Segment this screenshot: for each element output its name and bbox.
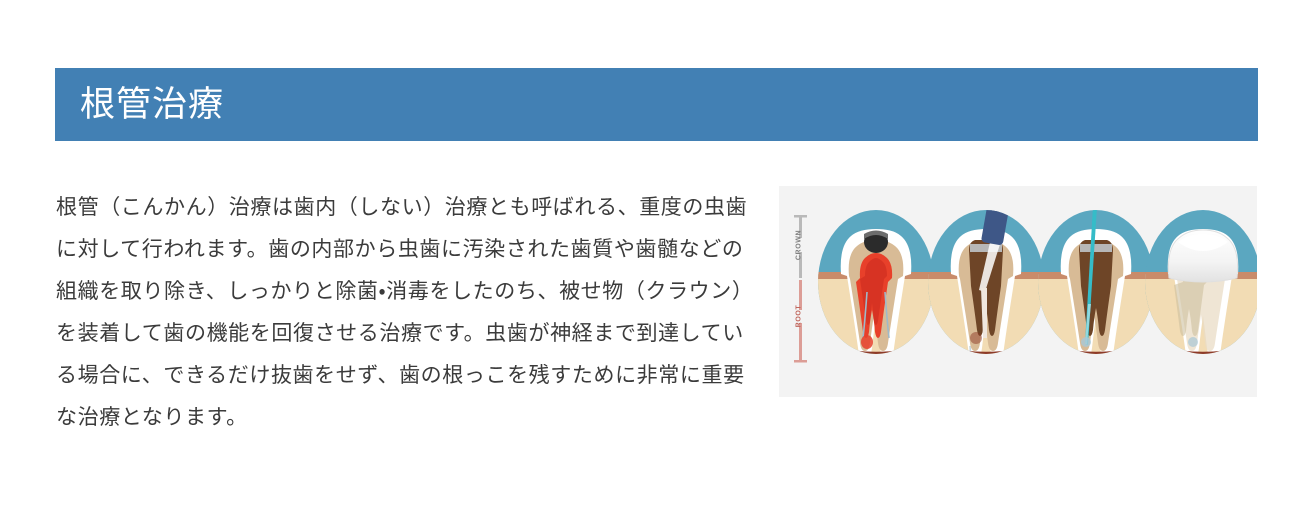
stage3-access-opening xyxy=(1080,244,1112,252)
root-scale-cap-bottom xyxy=(794,360,807,363)
stage1-apical-lesion xyxy=(861,335,873,349)
root-scale-label: ROOT xyxy=(796,305,803,328)
stage4-apex xyxy=(1188,337,1198,347)
stage2-apex xyxy=(970,332,982,344)
page-title: 根管治療 xyxy=(80,87,224,122)
crown-scale-label: CROWN xyxy=(796,230,803,260)
crown-scale-cap-top xyxy=(794,215,807,218)
section-header: 根管治療 xyxy=(55,68,1258,141)
body-paragraph: 根管（こんかん）治療は歯内（しない）治療とも呼ばれる、重度の虫歯に対して行われま… xyxy=(56,186,756,438)
stage3-apex xyxy=(1081,337,1091,347)
page-root: 根管治療 根管（こんかん）治療は歯内（しない）治療とも呼ばれる、重度の虫歯に対し… xyxy=(0,0,1296,510)
body-copy: 根管（こんかん）治療は歯内（しない）治療とも呼ばれる、重度の虫歯に対して行われま… xyxy=(56,186,756,438)
treatment-figure-panel: CROWN ROOT xyxy=(779,186,1257,397)
root-canal-stages-illustration: CROWN ROOT xyxy=(779,186,1257,397)
